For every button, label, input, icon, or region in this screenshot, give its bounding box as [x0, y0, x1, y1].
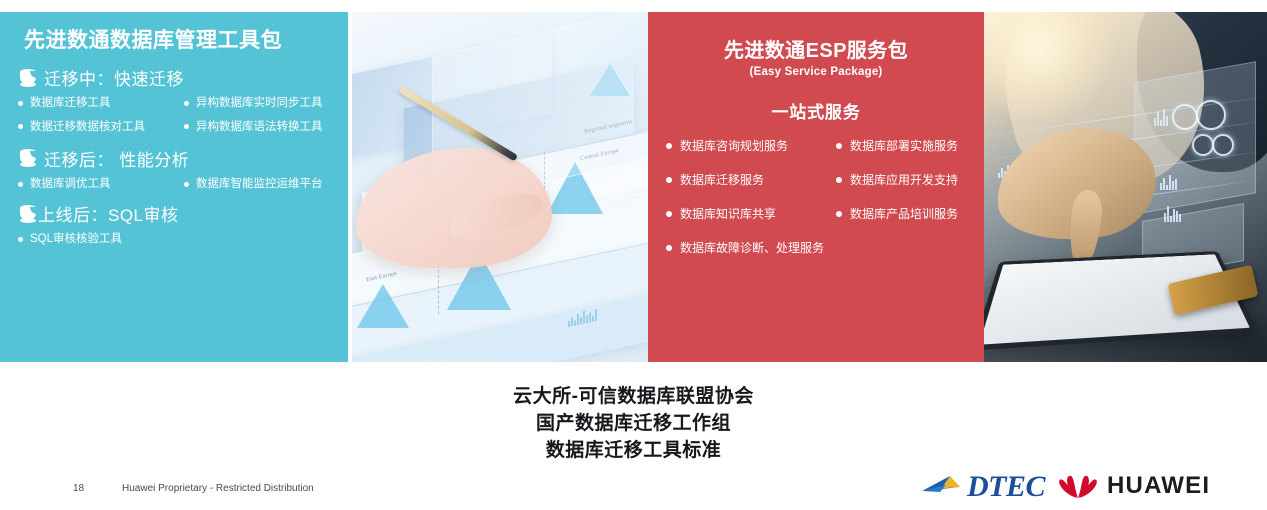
bullet-dot-icon: [184, 182, 189, 187]
bullet-dot-icon: [184, 101, 189, 106]
esp-service-package-panel: 先进数通ESP服务包 (Easy Service Package) 一站式服务 …: [648, 12, 984, 362]
database-icon: [20, 149, 36, 167]
list-item-label: 数据迁移数据核对工具: [30, 120, 145, 134]
database-toolkit-panel: 先进数通数据库管理工具包 迁移中：快速迁移 数据库迁移工具 异构数据库实时同步工…: [0, 12, 348, 362]
caption-line-3: 数据库迁移工具标准: [0, 438, 1267, 465]
photo-hud-ring: [1192, 134, 1214, 156]
page-number: 18: [73, 483, 84, 494]
bullet-dot-icon: [184, 124, 189, 129]
list-item: 数据库智能监控运维平台: [184, 177, 338, 191]
list-item-label: 数据库产品培训服务: [850, 205, 958, 222]
right-panel-title: 先进数通ESP服务包: [662, 34, 970, 63]
bullet-dot-icon: [836, 143, 842, 149]
huawei-logo: HUAWEI: [1058, 472, 1210, 500]
list-item-label: 异构数据库语法转换工具: [196, 120, 323, 134]
list-item-label: 数据库调优工具: [30, 177, 111, 191]
list-item-label: 数据库咨询规划服务: [680, 137, 788, 154]
list-item-label: 数据库迁移工具: [30, 96, 111, 110]
finger-touching-tablet-with-data-overlay-photo: [984, 12, 1267, 362]
bullet-group-post-migration: 数据库调优工具 数据库智能监控运维平台: [18, 177, 338, 191]
dtec-logo: DTEC: [920, 472, 1045, 502]
section-heading-migration: 迁移中：快速迁移: [20, 65, 338, 90]
bullet-group-migration: 数据库迁移工具 异构数据库实时同步工具 数据迁移数据核对工具 异构数据库语法转换…: [18, 96, 338, 134]
list-item: 数据库调优工具: [18, 177, 184, 191]
dtec-arrow-icon: [920, 474, 966, 500]
list-item: 数据库故障诊断、处理服务: [666, 239, 970, 256]
list-item-label: 数据库应用开发支持: [850, 171, 958, 188]
list-item: 数据库应用开发支持: [836, 171, 970, 188]
photo-light-flare: [984, 12, 1114, 122]
list-item-label: 数据库故障诊断、处理服务: [680, 239, 824, 256]
photo-area-chart: [357, 284, 409, 328]
huawei-wordmark: HUAWEI: [1107, 474, 1210, 498]
photo-hud-bars: [1160, 174, 1177, 190]
list-item: 数据库知识库共享: [666, 205, 836, 222]
bullet-dot-icon: [666, 245, 672, 251]
list-item: 数据库咨询规划服务: [666, 137, 836, 154]
section-heading-post-launch: 上线后：SQL审核: [20, 201, 338, 226]
caption-block: 云大所-可信数据库联盟协会 国产数据库迁移工作组 数据库迁移工具标准: [0, 384, 1267, 465]
bullet-dot-icon: [666, 143, 672, 149]
bullet-dot-icon: [836, 211, 842, 217]
dtec-wordmark: DTEC: [967, 472, 1045, 502]
database-icon: [20, 69, 36, 87]
list-item: 数据库迁移服务: [666, 171, 836, 188]
bullet-dot-icon: [18, 237, 23, 242]
list-item: 数据库部署实施服务: [836, 137, 970, 154]
bullet-dot-icon: [836, 177, 842, 183]
list-item: 数据库迁移工具: [18, 96, 184, 110]
bullet-group-post-launch: SQL审核核验工具: [18, 232, 338, 246]
list-item: 异构数据库语法转换工具: [184, 120, 338, 134]
caption-line-1: 云大所-可信数据库联盟协会: [0, 384, 1267, 411]
database-icon: [20, 205, 36, 223]
list-item-label: SQL审核核验工具: [30, 232, 122, 246]
right-panel-subtitle: (Easy Service Package): [662, 66, 970, 78]
list-item-label: 数据库知识库共享: [680, 205, 776, 222]
confidentiality-notice: Huawei Proprietary - Restricted Distribu…: [122, 483, 314, 494]
list-item-label: 数据库智能监控运维平台: [196, 177, 323, 191]
list-item: 异构数据库实时同步工具: [184, 96, 338, 110]
banner-strip: Regional segments Central Europe West Eu…: [0, 12, 1267, 362]
photo-hud-bars: [1164, 204, 1181, 222]
left-panel-title: 先进数通数据库管理工具包: [16, 28, 338, 53]
section-heading-post-migration: 迁移后： 性能分析: [20, 146, 338, 171]
hand-writing-with-pen-over-charts-photo: Regional segments Central Europe West Eu…: [352, 12, 648, 362]
bullet-dot-icon: [666, 177, 672, 183]
section-heading-label: 迁移中：快速迁移: [44, 65, 184, 90]
service-list: 数据库咨询规划服务 数据库部署实施服务 数据库迁移服务 数据库应用开发支持 数据…: [666, 137, 970, 222]
photo-hud-ring: [1212, 134, 1234, 156]
bullet-dot-icon: [666, 211, 672, 217]
list-item-label: 异构数据库实时同步工具: [196, 96, 323, 110]
list-item: SQL审核核验工具: [18, 232, 338, 246]
section-heading-label: 上线后：SQL审核: [38, 201, 179, 226]
bullet-dot-icon: [18, 124, 23, 129]
list-item-label: 数据库部署实施服务: [850, 137, 958, 154]
list-item: 数据库产品培训服务: [836, 205, 970, 222]
right-panel-section-heading: 一站式服务: [662, 98, 970, 123]
bullet-dot-icon: [18, 101, 23, 106]
service-list-wide: 数据库故障诊断、处理服务: [666, 239, 970, 256]
section-heading-label: 迁移后： 性能分析: [44, 146, 189, 171]
list-item-label: 数据库迁移服务: [680, 171, 764, 188]
bullet-dot-icon: [18, 182, 23, 187]
huawei-flower-icon: [1058, 472, 1098, 500]
list-item: 数据迁移数据核对工具: [18, 120, 184, 134]
caption-line-2: 国产数据库迁移工作组: [0, 411, 1267, 438]
